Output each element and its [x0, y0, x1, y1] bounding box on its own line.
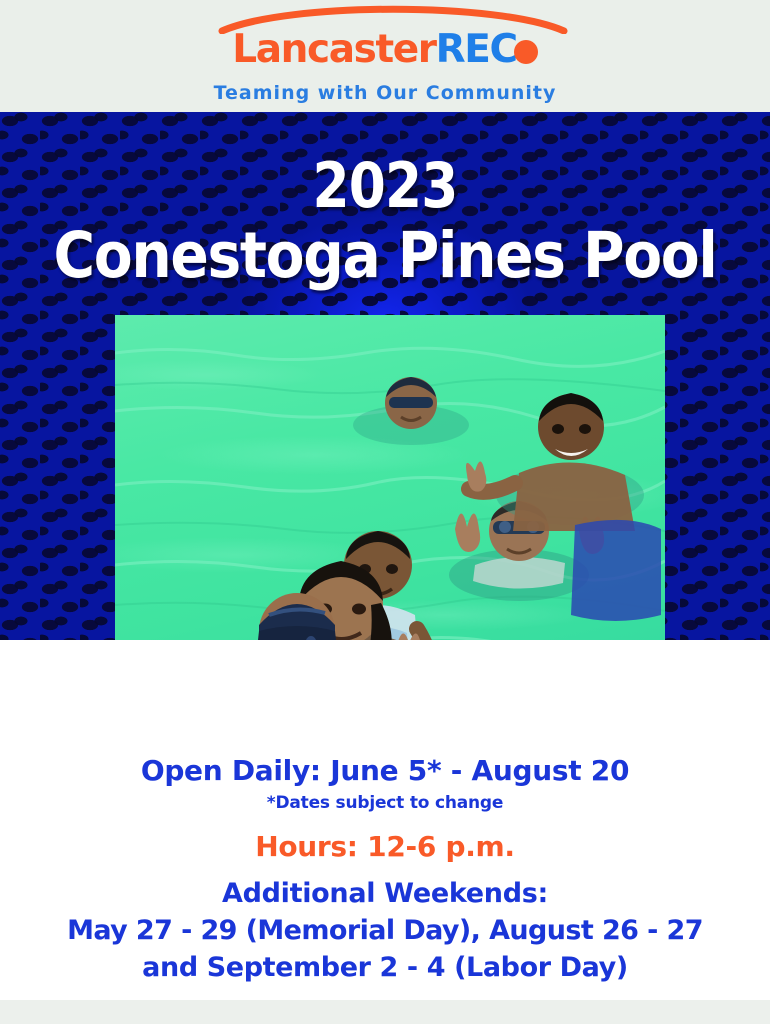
dates-disclaimer: *Dates subject to change	[0, 793, 770, 813]
pool-flyer: LancasterREC Teaming with Our Community …	[0, 0, 770, 1024]
header-logo-area: LancasterREC Teaming with Our Community	[0, 0, 770, 112]
hours-line: Hours: 12-6 p.m.	[0, 830, 770, 863]
page-title-main: Conestoga Pines Pool	[39, 221, 732, 292]
additional-weekends-line-1: May 27 - 29 (Memorial Day), August 26 - …	[0, 915, 770, 946]
additional-weekends-line-2: and September 2 - 4 (Labor Day)	[0, 952, 770, 983]
additional-weekends-heading: Additional Weekends:	[0, 878, 770, 909]
open-daily-line: Open Daily: June 5* - August 20	[0, 754, 770, 787]
footer-strip	[0, 1000, 770, 1024]
logo-text-rec: REC	[436, 27, 517, 72]
page-title-year: 2023	[54, 155, 716, 217]
logo-dot-icon	[514, 40, 538, 64]
brand-tagline: Teaming with Our Community	[0, 82, 770, 104]
banner-title-group: 2023 Conestoga Pines Pool	[0, 155, 770, 292]
logo-text-lancaster: Lancaster	[232, 27, 435, 72]
info-section: Open Daily: June 5* - August 20 *Dates s…	[0, 640, 770, 1000]
brand-logo[interactable]: LancasterREC	[0, 16, 770, 69]
